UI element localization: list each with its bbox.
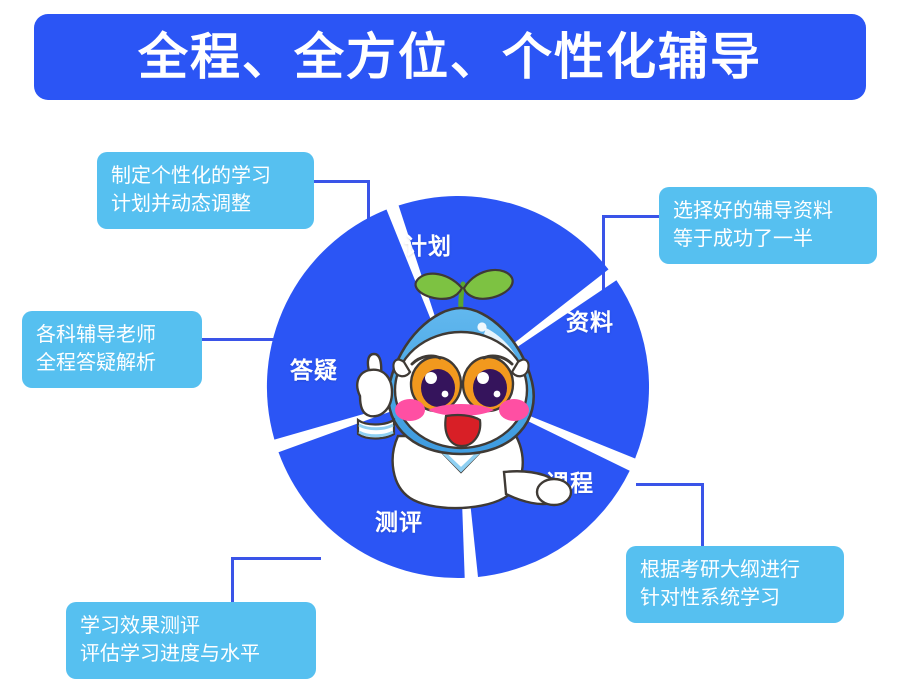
callout-material[interactable]: 选择好的辅导资料 等于成功了一半 (659, 187, 877, 264)
sprout-icon (416, 270, 513, 310)
mascot-right-hand (537, 479, 571, 505)
connector-course-vertical (701, 483, 704, 547)
callout-course[interactable]: 根据考研大纲进行 针对性系统学习 (626, 546, 844, 623)
mascot-left-hand (357, 354, 394, 439)
callout-qa[interactable]: 各科辅导老师 全程答疑解析 (22, 311, 202, 388)
page-title: 全程、全方位、个性化辅导 (138, 32, 762, 82)
mascot-cheek-right (499, 399, 529, 421)
callout-plan-line1: 制定个性化的学习 (111, 165, 271, 187)
page-title-banner: 全程、全方位、个性化辅导 (34, 14, 866, 100)
callout-material-line1: 选择好的辅导资料 (673, 200, 833, 222)
callout-material-line2: 等于成功了一半 (673, 225, 863, 253)
callout-qa-line1: 各科辅导老师 (36, 324, 156, 346)
callout-course-line1: 根据考研大纲进行 (640, 559, 800, 581)
wheel-label-plan: 计划 (404, 227, 452, 261)
mascot-illustration (336, 258, 586, 518)
callout-test-line1: 学习效果测评 (80, 615, 200, 637)
wheel-label-qa: 答疑 (290, 351, 338, 385)
connector-test-vertical (231, 557, 234, 603)
connector-plan-horizontal (312, 180, 370, 183)
callout-test-line2: 评估学习进度与水平 (80, 640, 302, 668)
callout-course-line2: 针对性系统学习 (640, 584, 830, 612)
callout-qa-line2: 全程答疑解析 (36, 349, 188, 377)
infographic-canvas: 全程、全方位、个性化辅导 制定个性化的学习 计划并动态调整 选择好的辅导资料 等… (0, 0, 900, 695)
mascot-cheek-left (395, 399, 425, 421)
callout-test[interactable]: 学习效果测评 评估学习进度与水平 (66, 602, 316, 679)
